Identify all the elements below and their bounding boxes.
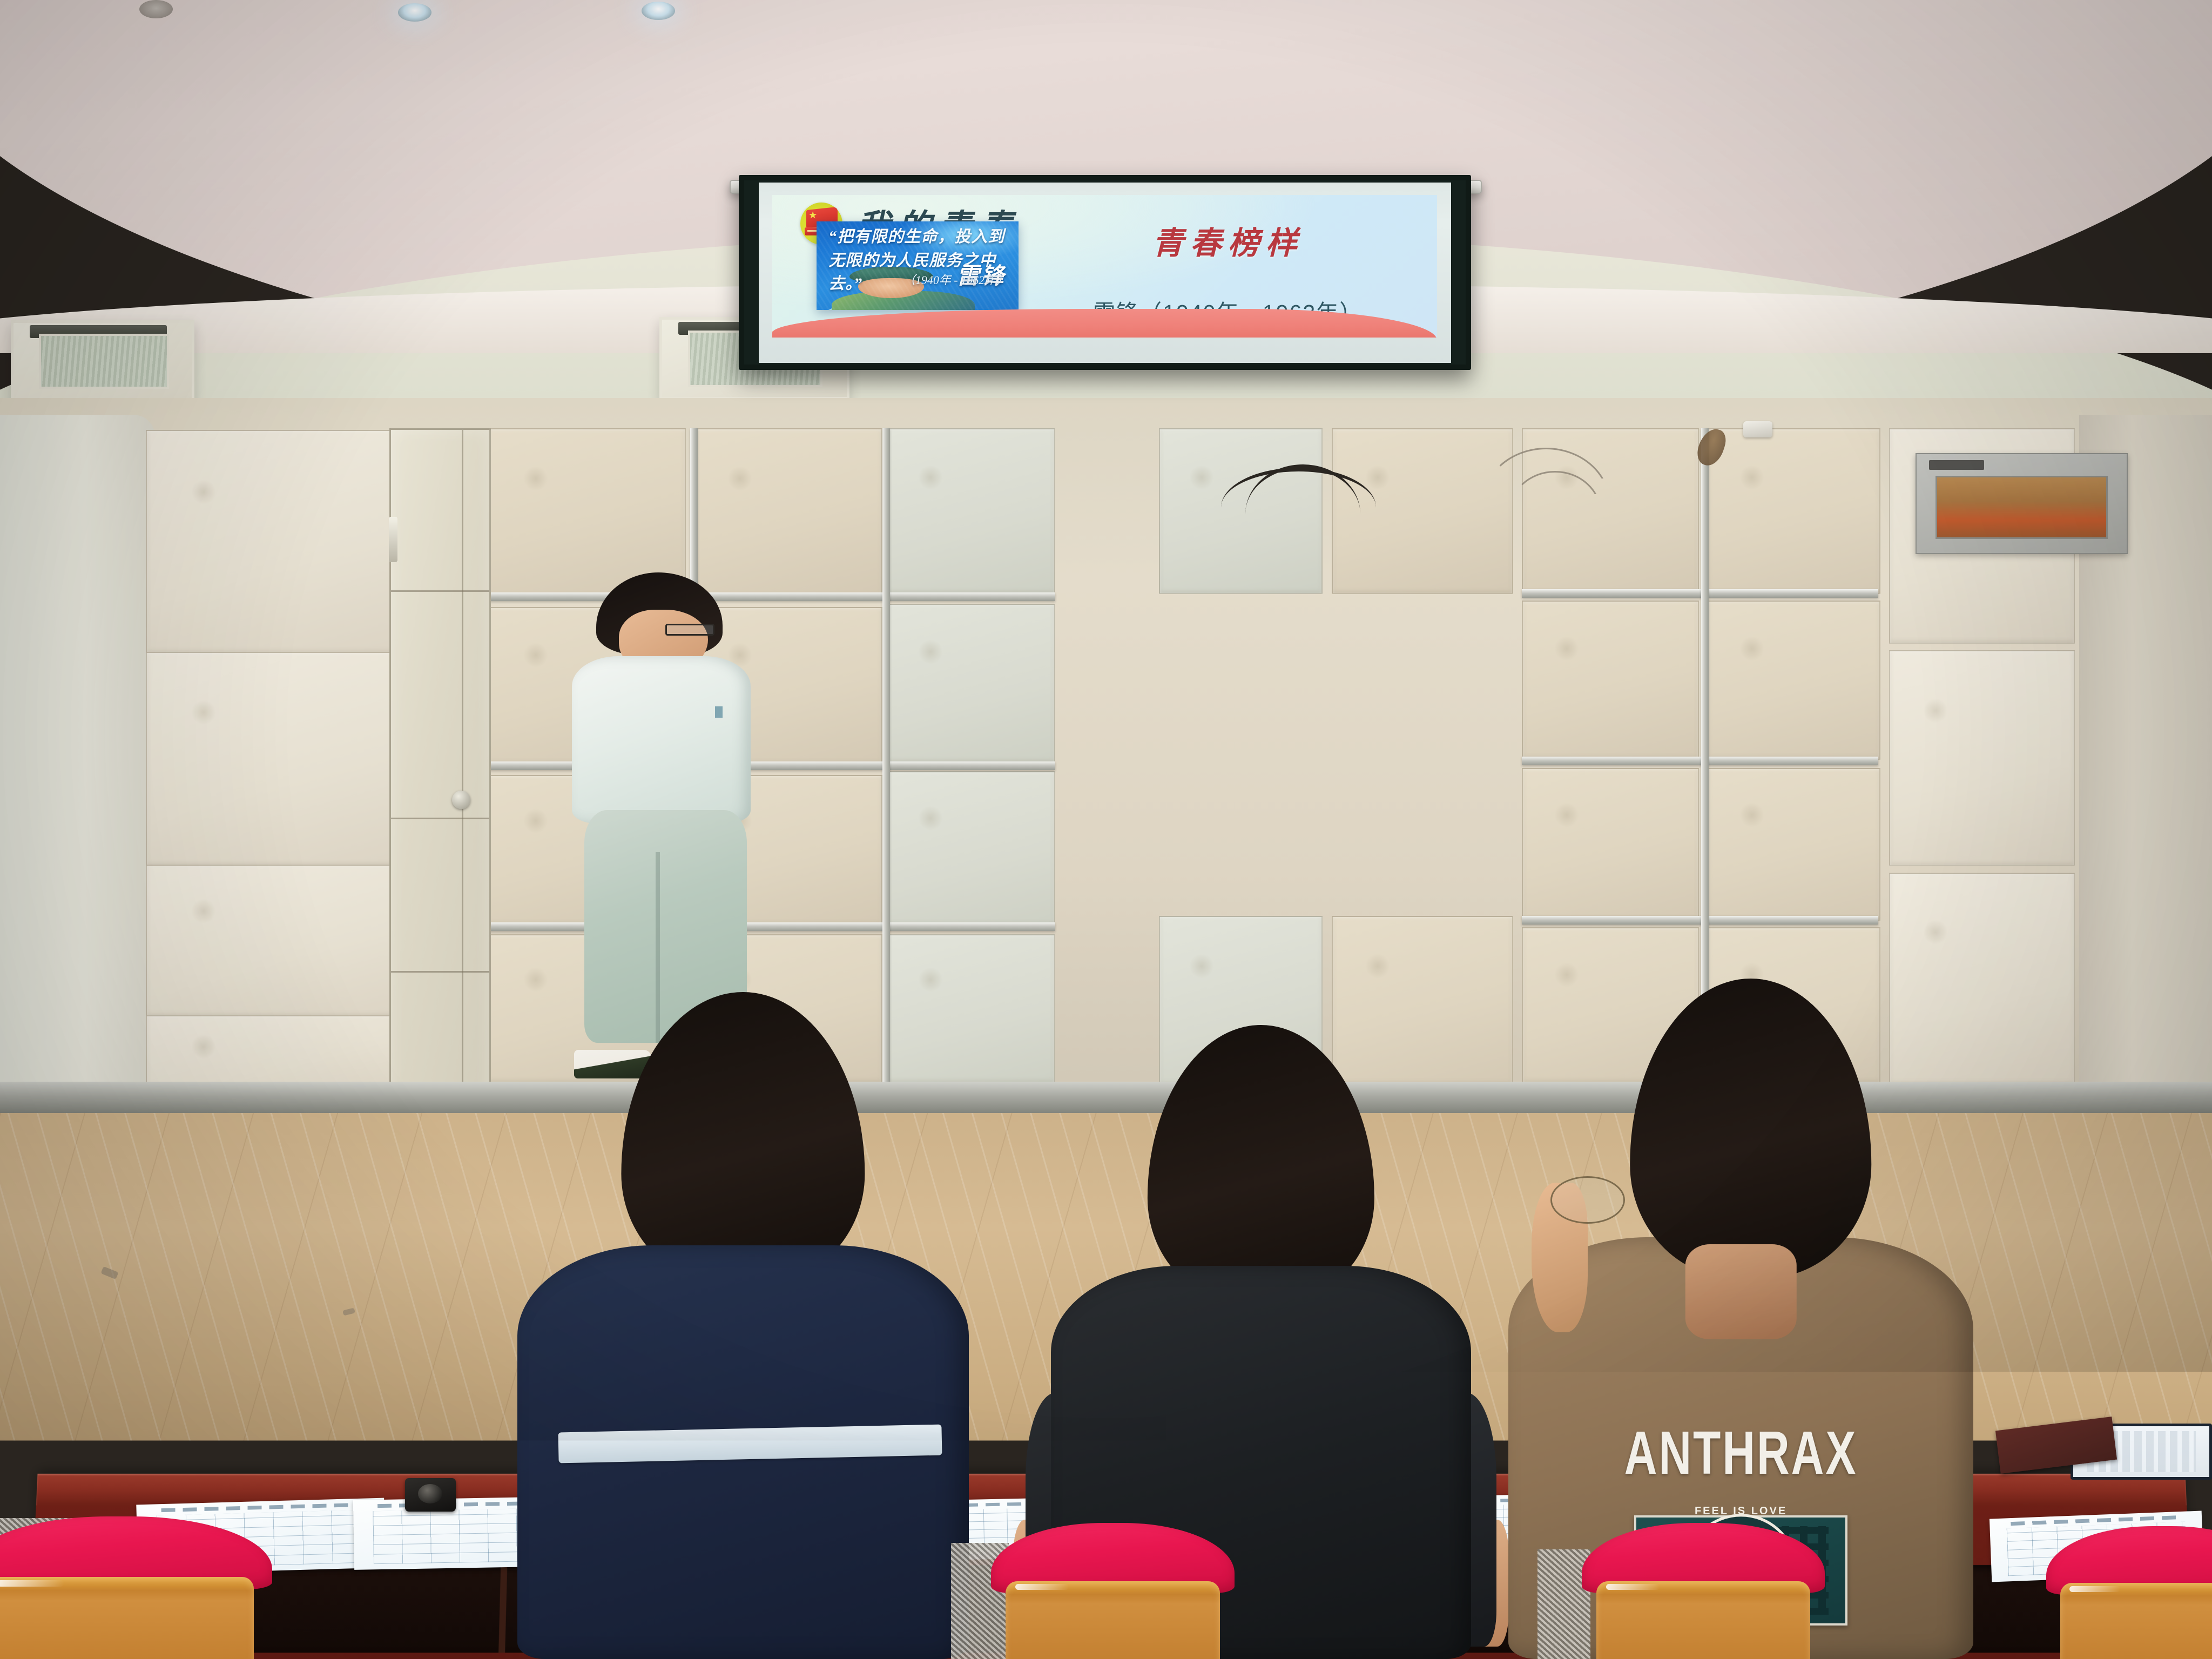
- judge-left-head: [622, 992, 865, 1285]
- wall-panel: [1522, 601, 1699, 760]
- wall-left-curve: [0, 415, 155, 1111]
- door-seam: [391, 590, 489, 592]
- door-seam: [391, 971, 489, 973]
- camera-on-table[interactable]: [405, 1478, 456, 1511]
- door-split: [462, 430, 463, 1098]
- wall-panel: [887, 771, 1055, 926]
- wall-panel: [1708, 768, 1880, 921]
- panel-window: [1935, 476, 2108, 539]
- presentation-slide[interactable]: 我的青春 “把有限的生命，投入到无限的为人民服务之中去。” 雷锋: [772, 195, 1437, 338]
- seat-back-wood: [1006, 1581, 1219, 1659]
- seat-back-wood: [147, 1570, 361, 1659]
- wall-trim-strip: [1522, 757, 1878, 765]
- poster-subject-years: （1940年 - 1962年）: [903, 271, 1008, 288]
- screen-surface[interactable]: 我的青春 “把有限的生命，投入到无限的为人民服务之中去。” 雷锋: [759, 183, 1451, 363]
- wall-panel: [887, 604, 1055, 763]
- seat-gloss-highlight: [427, 1576, 482, 1582]
- seat-back-wood: [417, 1573, 636, 1659]
- judge-right-glasses-icon: [1550, 1176, 1625, 1224]
- wall-sensor: [1743, 421, 1772, 437]
- panel-label: [1929, 460, 1984, 470]
- recessed-downlight: [139, 0, 173, 18]
- recessed-downlight: [642, 2, 675, 20]
- wall-trim-strip: [1522, 589, 1878, 598]
- wall-panel: [1708, 601, 1880, 760]
- wall-panel: [1708, 428, 1880, 594]
- auditorium-seat[interactable]: [991, 1523, 1235, 1659]
- seat-gloss-highlight: [1606, 1584, 1660, 1590]
- presenter-shirt-logo: [715, 706, 723, 718]
- wall-panel: [146, 865, 394, 1017]
- judge-right-head: [1630, 979, 1871, 1278]
- seat-gloss-highlight: [2069, 1586, 2121, 1592]
- tshirt-wordmark: ANTHRAX: [1522, 1418, 1959, 1489]
- wall-panel: [887, 428, 1055, 594]
- ac-grille: [39, 334, 169, 389]
- slide-section-title: 青春榜样: [1045, 218, 1411, 263]
- slide-wave-primary: [772, 309, 1437, 338]
- door-hinge-icon: [389, 517, 397, 562]
- auditorium-seat[interactable]: [133, 1506, 376, 1659]
- wall-trim-strip: [1522, 916, 1878, 925]
- side-door[interactable]: [389, 428, 491, 1100]
- judge-right-neck: [1685, 1244, 1796, 1339]
- seat-gloss-highlight: [0, 1580, 64, 1587]
- door-knob-icon[interactable]: [452, 791, 470, 809]
- wall-trim-strip: [882, 428, 890, 1085]
- lei-feng-poster: “把有限的生命，投入到无限的为人民服务之中去。” 雷锋 （1940年 - 196…: [817, 221, 1019, 310]
- wall-panel: [1522, 768, 1699, 921]
- seat-back-wood: [1596, 1581, 1810, 1659]
- auditorium-seat[interactable]: [402, 1510, 650, 1659]
- nameplate-text: wooden-nameplate: [2039, 1443, 2073, 1447]
- wall-panel: [146, 430, 394, 654]
- screen-surface-wrap: 我的青春 “把有限的生命，投入到无限的为人民服务之中去。” 雷锋: [739, 175, 1471, 370]
- seat-gloss-highlight: [1015, 1584, 1069, 1590]
- seat-gloss-highlight: [157, 1574, 211, 1581]
- wall-panel: [1889, 650, 2075, 866]
- presenter-glasses-icon: [665, 624, 714, 636]
- seat-back-wood: [2060, 1583, 2212, 1659]
- ceiling-ac-cassette: [11, 320, 194, 402]
- door-seam: [391, 818, 489, 819]
- presenter-shirt: [572, 656, 751, 823]
- wall-panel: [146, 652, 394, 866]
- auditorium-scene: THREELEAVES 我的青春: [0, 0, 2212, 1659]
- auditorium-seat[interactable]: [1582, 1523, 1825, 1659]
- screen-frame: 我的青春 “把有限的生命，投入到无限的为人民服务之中去。” 雷锋: [739, 175, 1471, 370]
- judge-mid-head: [1148, 1025, 1374, 1304]
- electrical-distribution-panel[interactable]: [1916, 453, 2128, 554]
- auditorium-seat[interactable]: [2046, 1526, 2212, 1659]
